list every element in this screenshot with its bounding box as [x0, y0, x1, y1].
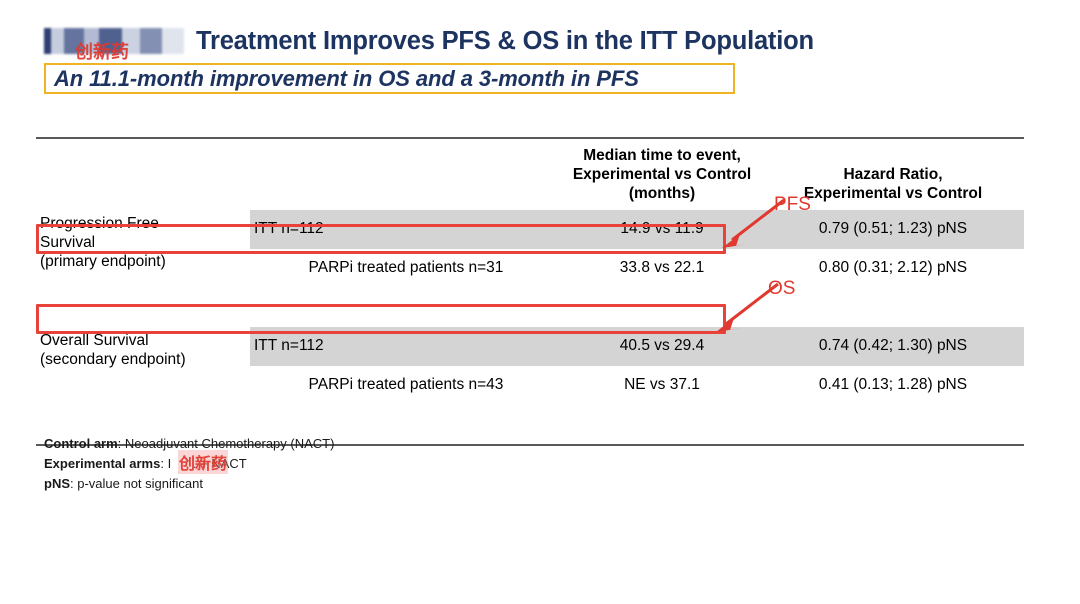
- table-row: Overall Survival (secondary endpoint) IT…: [36, 327, 1024, 366]
- spacer-hazard: [762, 288, 1024, 327]
- header-population: [250, 139, 562, 210]
- footnote-experimental-arms-text: : I: [160, 456, 171, 471]
- slide-canvas: Treatment Improves PFS & OS in the ITT P…: [0, 0, 1080, 604]
- footnote-pns: pNS: p-value not significant: [44, 474, 334, 494]
- footnote-experimental-arms-text-after: . + NACT: [193, 456, 247, 471]
- results-table: Median time to event, Experimental vs Co…: [36, 139, 1024, 444]
- population-pfs-parpi: PARPi treated patients n=31: [250, 249, 562, 288]
- footnote-pns-label: pNS: [44, 476, 70, 491]
- callout-label-pfs: PFS: [774, 194, 811, 216]
- page-title: Treatment Improves PFS & OS in the ITT P…: [196, 27, 814, 56]
- footnote-control-arm-label: Control arm: [44, 436, 118, 451]
- median-pfs-parpi: 33.8 vs 22.1: [562, 249, 762, 288]
- median-os-parpi: NE vs 37.1: [562, 366, 762, 405]
- endpoint-pfs-line2: Survival: [40, 234, 246, 253]
- median-os-itt: 40.5 vs 29.4: [562, 327, 762, 366]
- subtitle-callout-box: An 11.1-month improvement in OS and a 3-…: [44, 63, 735, 94]
- endpoint-cell-pfs: Progression Free Survival (primary endpo…: [36, 210, 250, 327]
- redacted-sponsor-logo: [44, 28, 184, 54]
- population-os-parpi: PARPi treated patients n=43: [250, 366, 562, 405]
- hazard-pfs-parpi: 0.80 (0.31; 2.12) pNS: [762, 249, 1024, 288]
- spacer-median-2: [562, 405, 762, 444]
- table-body: Progression Free Survival (primary endpo…: [36, 210, 1024, 444]
- hazard-os-parpi: 0.41 (0.13; 1.28) pNS: [762, 366, 1024, 405]
- spacer-median: [562, 288, 762, 327]
- median-pfs-itt: 14.9 vs 11.9: [562, 210, 762, 249]
- footnotes-block: Control arm: Neoadjuvant Chemotherapy (N…: [44, 434, 334, 493]
- spacer-population: [250, 288, 562, 327]
- header-median-line3: (months): [566, 185, 758, 204]
- callout-label-os: OS: [768, 278, 795, 300]
- population-os-itt: ITT n=112: [250, 327, 562, 366]
- header-median-line2: Experimental vs Control: [566, 166, 758, 185]
- footnote-drug-name-redacted: [171, 456, 193, 471]
- results-table-container: Median time to event, Experimental vs Co…: [36, 137, 1024, 446]
- spacer-hazard-2: [762, 405, 1024, 444]
- footnote-experimental-arms-label: Experimental arms: [44, 456, 160, 471]
- population-pfs-itt: ITT n=112: [250, 210, 562, 249]
- table-row: Progression Free Survival (primary endpo…: [36, 210, 1024, 249]
- table-header: Median time to event, Experimental vs Co…: [36, 139, 1024, 210]
- endpoint-pfs-line3: (primary endpoint): [40, 253, 246, 272]
- header-median-line1: Median time to event,: [566, 147, 758, 166]
- endpoint-os-line2: (secondary endpoint): [40, 351, 246, 370]
- endpoint-pfs-line1: Progression Free: [40, 215, 246, 234]
- header-hazard-line1: Hazard Ratio,: [766, 166, 1020, 185]
- footnote-pns-text: : p-value not significant: [70, 476, 203, 491]
- endpoint-cell-os: Overall Survival (secondary endpoint): [36, 327, 250, 444]
- slide-title-row: Treatment Improves PFS & OS in the ITT P…: [44, 22, 814, 60]
- endpoint-os-line1: Overall Survival: [40, 332, 246, 351]
- table-header-row: Median time to event, Experimental vs Co…: [36, 139, 1024, 210]
- subtitle-text: An 11.1-month improvement in OS and a 3-…: [54, 66, 639, 92]
- header-endpoint: [36, 139, 250, 210]
- footnote-control-arm: Control arm: Neoadjuvant Chemotherapy (N…: [44, 434, 334, 454]
- footnote-experimental-arms: Experimental arms: I . + NACT: [44, 454, 334, 474]
- footnote-control-arm-text: : Neoadjuvant Chemotherapy (NACT): [118, 436, 335, 451]
- header-median-time: Median time to event, Experimental vs Co…: [562, 139, 762, 210]
- hazard-os-itt: 0.74 (0.42; 1.30) pNS: [762, 327, 1024, 366]
